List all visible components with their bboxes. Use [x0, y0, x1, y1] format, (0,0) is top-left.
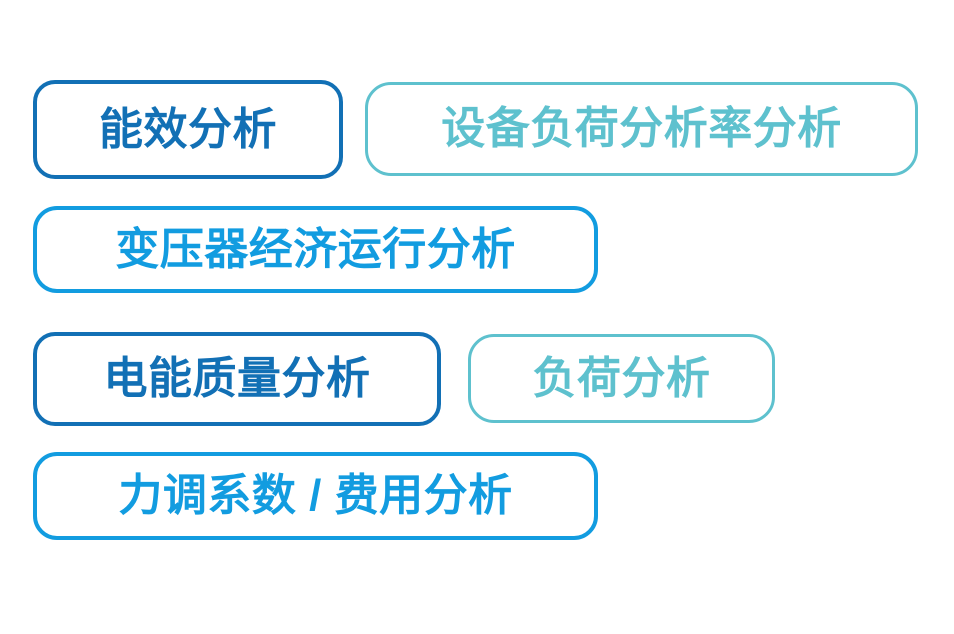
chip-power-factor-fee[interactable]: 力调系数 / 费用分析 [33, 452, 598, 540]
chip-power-quality[interactable]: 电能质量分析 [33, 332, 441, 426]
chip-transformer-economy[interactable]: 变压器经济运行分析 [33, 206, 598, 293]
chip-device-load-rate[interactable]: 设备负荷分析率分析 [365, 82, 918, 176]
chip-transformer-economy-label: 变压器经济运行分析 [115, 228, 516, 272]
chip-energy-efficiency[interactable]: 能效分析 [33, 80, 343, 179]
chip-energy-efficiency-label: 能效分析 [99, 108, 277, 152]
chip-board: 能效分析 设备负荷分析率分析 变压器经济运行分析 电能质量分析 负荷分析 力调系… [0, 0, 954, 634]
chip-load-analysis-label: 负荷分析 [533, 357, 711, 401]
chip-device-load-rate-label: 设备负荷分析率分析 [441, 107, 842, 151]
chip-power-factor-fee-label: 力调系数 / 费用分析 [118, 474, 512, 518]
chip-power-quality-label: 电能质量分析 [104, 357, 371, 401]
chip-load-analysis[interactable]: 负荷分析 [468, 334, 775, 423]
